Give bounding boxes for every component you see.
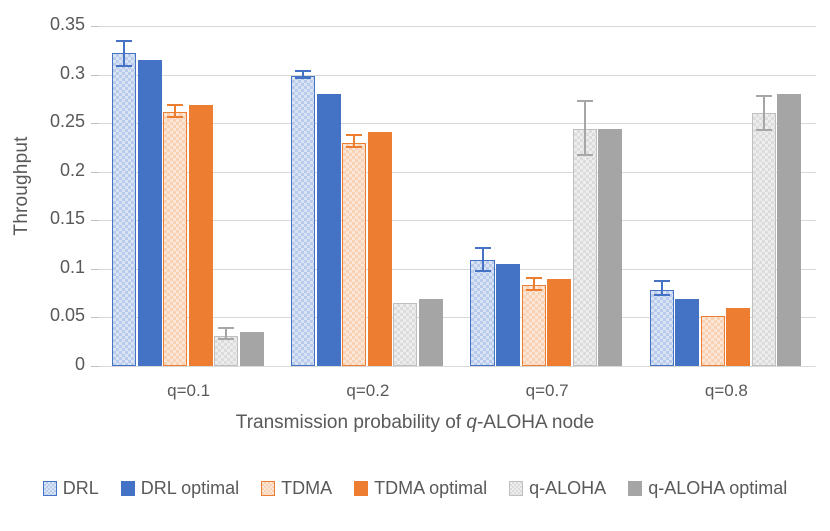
x-axis-label-q0.2: q=0.2 bbox=[278, 381, 457, 401]
y-axis-tick-label: 0 bbox=[18, 354, 85, 375]
bar-drlopt-q0.7 bbox=[496, 264, 520, 366]
error-bar bbox=[752, 97, 776, 366]
legend-label: q-ALOHA bbox=[529, 478, 606, 499]
error-bar-cap-top bbox=[577, 100, 593, 102]
y-axis-tick-mark bbox=[91, 26, 99, 27]
bar-tdmaopt-q0.7 bbox=[547, 279, 571, 366]
error-bar-cap-bottom bbox=[116, 65, 132, 67]
gridline bbox=[99, 366, 816, 367]
bar-drlopt-q0.8 bbox=[675, 299, 699, 366]
error-bar-cap-top bbox=[218, 327, 234, 329]
legend-item-q-aloha-optimal[interactable]: q-ALOHA optimal bbox=[628, 478, 787, 499]
legend-item-drl[interactable]: DRL bbox=[43, 478, 99, 499]
bar-tdmaopt-q0.8 bbox=[726, 308, 750, 366]
x-axis-label-q0.7: q=0.7 bbox=[458, 381, 637, 401]
bar-alohaopt-q0.2 bbox=[419, 299, 443, 366]
gridline bbox=[99, 75, 816, 76]
error-bar-cap-bottom bbox=[756, 129, 772, 131]
plot-area bbox=[99, 26, 816, 366]
y-axis-tick-label: 0.1 bbox=[18, 257, 85, 278]
bar-tdmaopt-q0.1 bbox=[189, 105, 213, 366]
y-axis-tick-mark bbox=[91, 317, 99, 318]
error-bar bbox=[163, 106, 187, 366]
x-axis-label-q0.1: q=0.1 bbox=[99, 381, 278, 401]
legend-swatch-icon bbox=[261, 481, 275, 496]
legend-label: TDMA bbox=[281, 478, 332, 499]
legend-swatch-icon bbox=[121, 481, 135, 496]
y-axis-tick-mark bbox=[91, 75, 99, 76]
error-bar-cap-bottom bbox=[346, 146, 362, 148]
y-axis-tick-label: 0.15 bbox=[18, 208, 85, 229]
legend-label: q-ALOHA optimal bbox=[648, 478, 787, 499]
y-axis-tick-label: 0.05 bbox=[18, 305, 85, 326]
error-bar-stem bbox=[482, 249, 484, 271]
bar-aloha-q0.2 bbox=[393, 303, 417, 366]
bar-alohaopt-q0.8 bbox=[777, 94, 801, 366]
error-bar-cap-top bbox=[295, 70, 311, 72]
legend-swatch-icon bbox=[43, 481, 57, 496]
error-bar-cap-bottom bbox=[167, 116, 183, 118]
legend-swatch-icon bbox=[509, 481, 523, 496]
x-axis-title: Transmission probability of q-ALOHA node bbox=[0, 412, 830, 434]
y-axis-tick-mark bbox=[91, 220, 99, 221]
error-bar-cap-bottom bbox=[526, 289, 542, 291]
legend-item-tdma[interactable]: TDMA bbox=[261, 478, 332, 499]
error-bar bbox=[573, 102, 597, 366]
error-bar-cap-bottom bbox=[218, 338, 234, 340]
y-axis-tick-mark bbox=[91, 269, 99, 270]
y-axis-tick-label: 0.25 bbox=[18, 111, 85, 132]
error-bar-stem bbox=[584, 102, 586, 156]
error-bar bbox=[112, 42, 136, 366]
y-axis-tick-mark bbox=[91, 172, 99, 173]
legend-label: TDMA optimal bbox=[374, 478, 487, 499]
y-axis-tick-mark bbox=[91, 366, 99, 367]
error-bar-cap-top bbox=[756, 95, 772, 97]
error-bar bbox=[214, 329, 238, 366]
error-bar bbox=[470, 249, 494, 366]
error-bar-cap-top bbox=[654, 280, 670, 282]
y-axis-tick-label: 0.35 bbox=[18, 14, 85, 35]
y-axis-tick-label: 0.3 bbox=[18, 63, 85, 84]
y-axis-tick-mark bbox=[91, 123, 99, 124]
legend-item-q-aloha[interactable]: q-ALOHA bbox=[509, 478, 606, 499]
legend-label: DRL bbox=[63, 478, 99, 499]
error-bar-cap-top bbox=[346, 134, 362, 136]
bar-alohaopt-q0.1 bbox=[240, 332, 264, 366]
error-bar-stem bbox=[123, 42, 125, 67]
x-axis-label-q0.8: q=0.8 bbox=[637, 381, 816, 401]
error-bar-cap-top bbox=[475, 247, 491, 249]
y-axis-tick-label: 0.2 bbox=[18, 160, 85, 181]
error-bar-cap-top bbox=[167, 104, 183, 106]
error-bar-cap-bottom bbox=[475, 270, 491, 272]
gridline bbox=[99, 26, 816, 27]
legend-swatch-icon bbox=[354, 481, 368, 496]
bar-chart: Throughput 00.050.10.150.20.250.30.35 q=… bbox=[0, 0, 830, 531]
error-bar bbox=[291, 72, 315, 366]
legend-item-drl-optimal[interactable]: DRL optimal bbox=[121, 478, 239, 499]
error-bar-cap-bottom bbox=[577, 154, 593, 156]
legend-item-tdma-optimal[interactable]: TDMA optimal bbox=[354, 478, 487, 499]
error-bar-cap-top bbox=[526, 277, 542, 279]
legend-label: DRL optimal bbox=[141, 478, 239, 499]
error-bar-cap-bottom bbox=[654, 294, 670, 296]
error-bar bbox=[522, 279, 546, 366]
error-bar bbox=[650, 282, 674, 366]
bar-tdmaopt-q0.2 bbox=[368, 132, 392, 366]
legend-swatch-icon bbox=[628, 481, 642, 496]
error-bar bbox=[342, 136, 366, 366]
error-bar-stem bbox=[763, 97, 765, 131]
bar-alohaopt-q0.7 bbox=[598, 129, 622, 366]
bar-tdma-q0.8 bbox=[701, 316, 725, 367]
error-bar-cap-bottom bbox=[295, 77, 311, 79]
chart-legend: DRLDRL optimalTDMATDMA optimalq-ALOHAq-A… bbox=[0, 478, 830, 499]
error-bar-cap-top bbox=[116, 40, 132, 42]
bar-drlopt-q0.1 bbox=[138, 60, 162, 366]
bar-drlopt-q0.2 bbox=[317, 94, 341, 366]
